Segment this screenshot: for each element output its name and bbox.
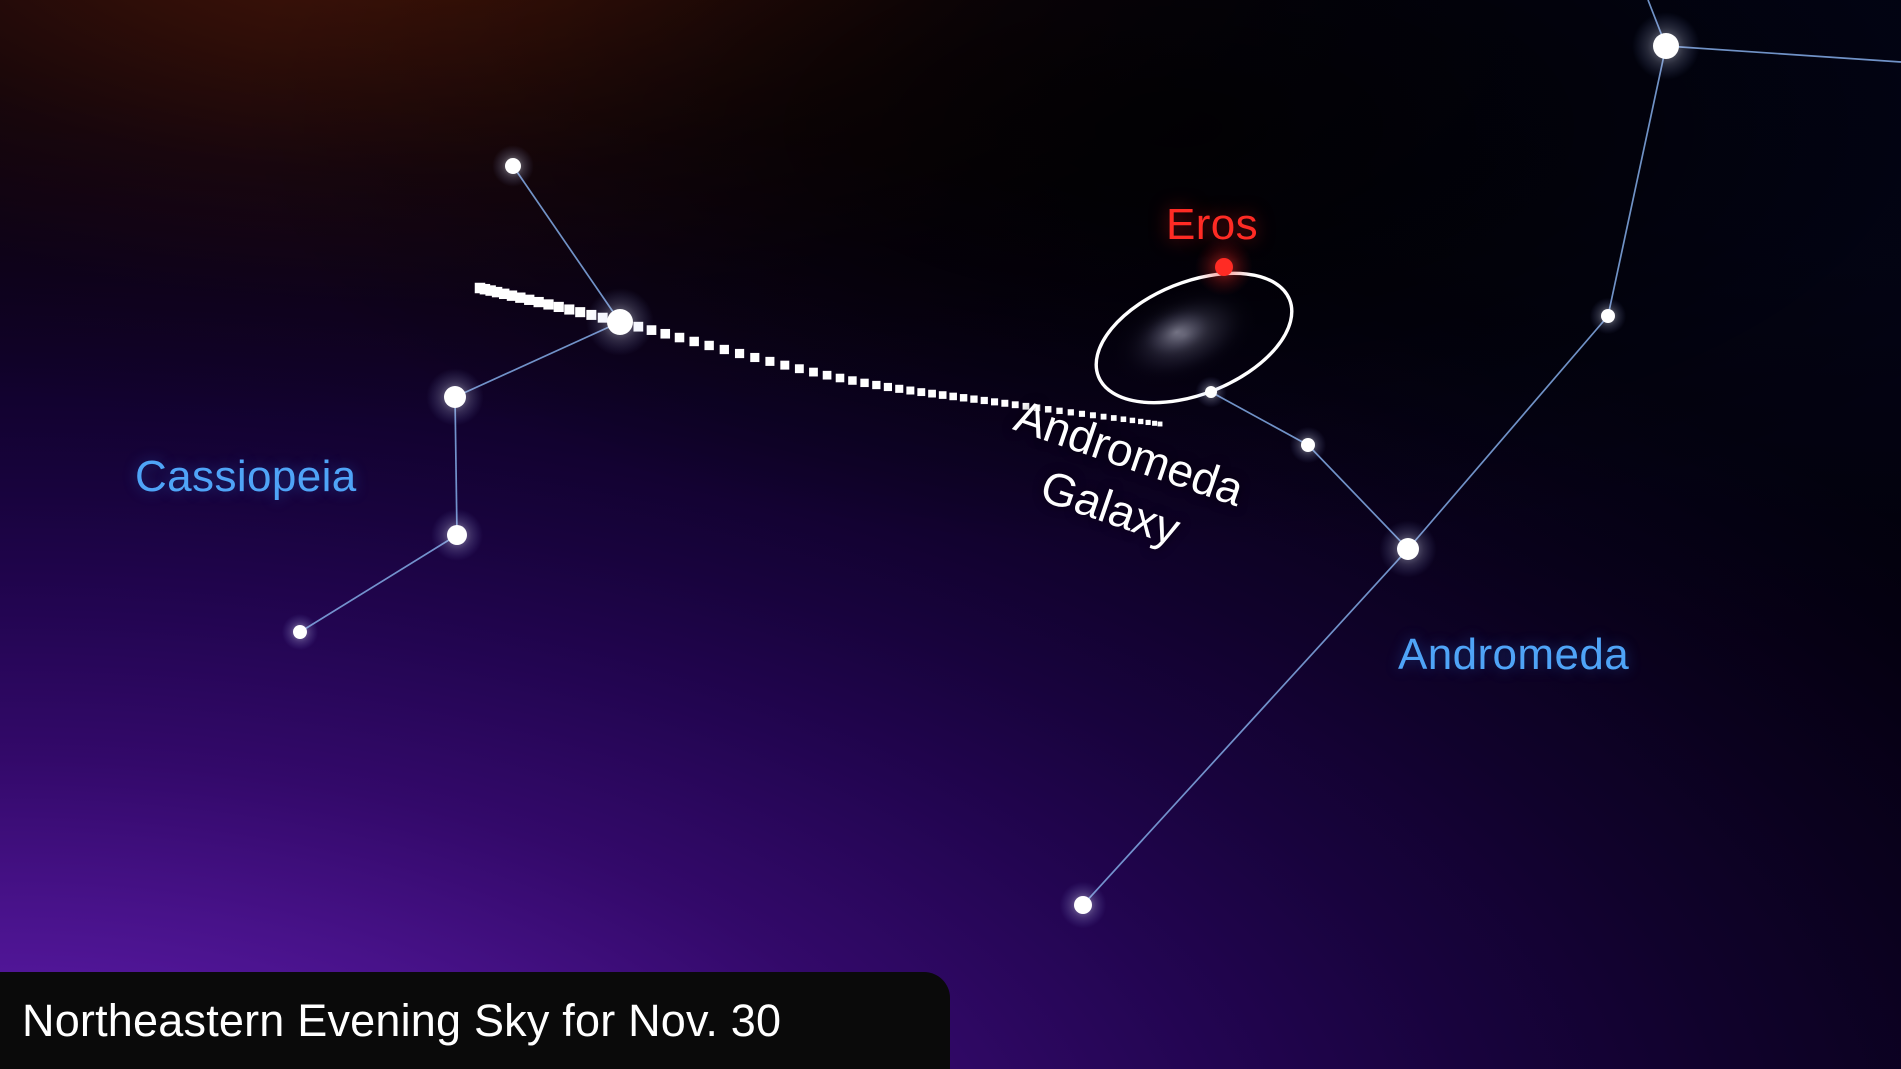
pointer-line-dot (906, 387, 914, 395)
pointer-line-dot (554, 302, 564, 312)
pointer-line-dot (780, 361, 789, 370)
constellation-line (1608, 46, 1666, 316)
pointer-line-dot (675, 333, 685, 343)
pointer-line-dot (836, 374, 845, 383)
pointer-line-dot (884, 383, 892, 391)
pointer-line-dot (1158, 422, 1163, 427)
pointer-line-dot (848, 376, 856, 384)
pointer-line-dot (895, 385, 903, 393)
pointer-line-dot (689, 337, 698, 346)
pointer-line-dot (928, 390, 936, 398)
caption-text: Northeastern Evening Sky for Nov. 30 (0, 995, 781, 1047)
star-dot[interactable] (444, 386, 466, 408)
pointer-line-dot (960, 394, 967, 401)
constellation-line-offscreen (1666, 46, 1901, 62)
pointer-line-dot (1146, 420, 1151, 425)
pointer-line-dot (720, 345, 729, 354)
constellation-label-andromeda[interactable]: Andromeda (1398, 630, 1629, 680)
pointer-line-dot (917, 388, 925, 396)
constellation-line (1408, 316, 1608, 549)
pointer-line-dot (991, 398, 998, 405)
constellation-line (1083, 549, 1408, 905)
constellation-line (300, 535, 457, 632)
pointer-line-dot (981, 397, 988, 404)
pointer-line-dot (1138, 419, 1143, 424)
pointer-line-dot (823, 371, 832, 380)
sky-chart-canvas: Cassiopeia Andromeda Eros Andromeda Gala… (0, 0, 1901, 1069)
pointer-line-dot (765, 357, 774, 366)
pointer-line-dot (750, 353, 759, 362)
pointer-line-dot (515, 293, 525, 303)
star-dot[interactable] (1074, 896, 1092, 914)
star-dot[interactable] (293, 625, 307, 639)
star-chart-svg (0, 0, 1901, 1069)
pointer-line-dot (1152, 421, 1157, 426)
star-dot[interactable] (1397, 538, 1419, 560)
pointer-line-dot (660, 329, 670, 339)
star-dot[interactable] (1653, 33, 1679, 59)
pointer-line-dot (1001, 400, 1008, 407)
star-dot[interactable] (1205, 386, 1217, 398)
pointer-line-dot (534, 297, 544, 307)
pointer-line-dot (543, 299, 553, 309)
pointer-line-dot (575, 307, 585, 317)
pointer-line-dot (735, 349, 744, 358)
pointer-line-dot (1012, 401, 1019, 408)
pointer-line-dot (704, 341, 713, 350)
star-dot[interactable] (1301, 438, 1315, 452)
pointer-line-dot (949, 393, 957, 401)
eros-dot[interactable] (1215, 258, 1233, 276)
object-label-eros[interactable]: Eros (1166, 200, 1258, 250)
star-dot[interactable] (505, 158, 521, 174)
constellation-label-cassiopeia[interactable]: Cassiopeia (135, 452, 357, 502)
star-glow-group (282, 12, 1700, 928)
andromeda-galaxy-symbol[interactable] (1078, 247, 1311, 428)
pointer-line-dot (809, 368, 818, 377)
pointer-line-dot (939, 391, 947, 399)
caption-bar: Northeastern Evening Sky for Nov. 30 (0, 972, 950, 1069)
star-dot[interactable] (607, 309, 633, 335)
pointer-line-dot (872, 381, 880, 389)
pointer-line-dot (564, 304, 574, 314)
pointer-line-dot (524, 295, 534, 305)
star-dot[interactable] (1601, 309, 1615, 323)
pointer-line-dot (970, 395, 977, 402)
pointer-line-dot (795, 364, 804, 373)
pointer-line-dot (860, 379, 868, 387)
star-dot[interactable] (447, 525, 467, 545)
